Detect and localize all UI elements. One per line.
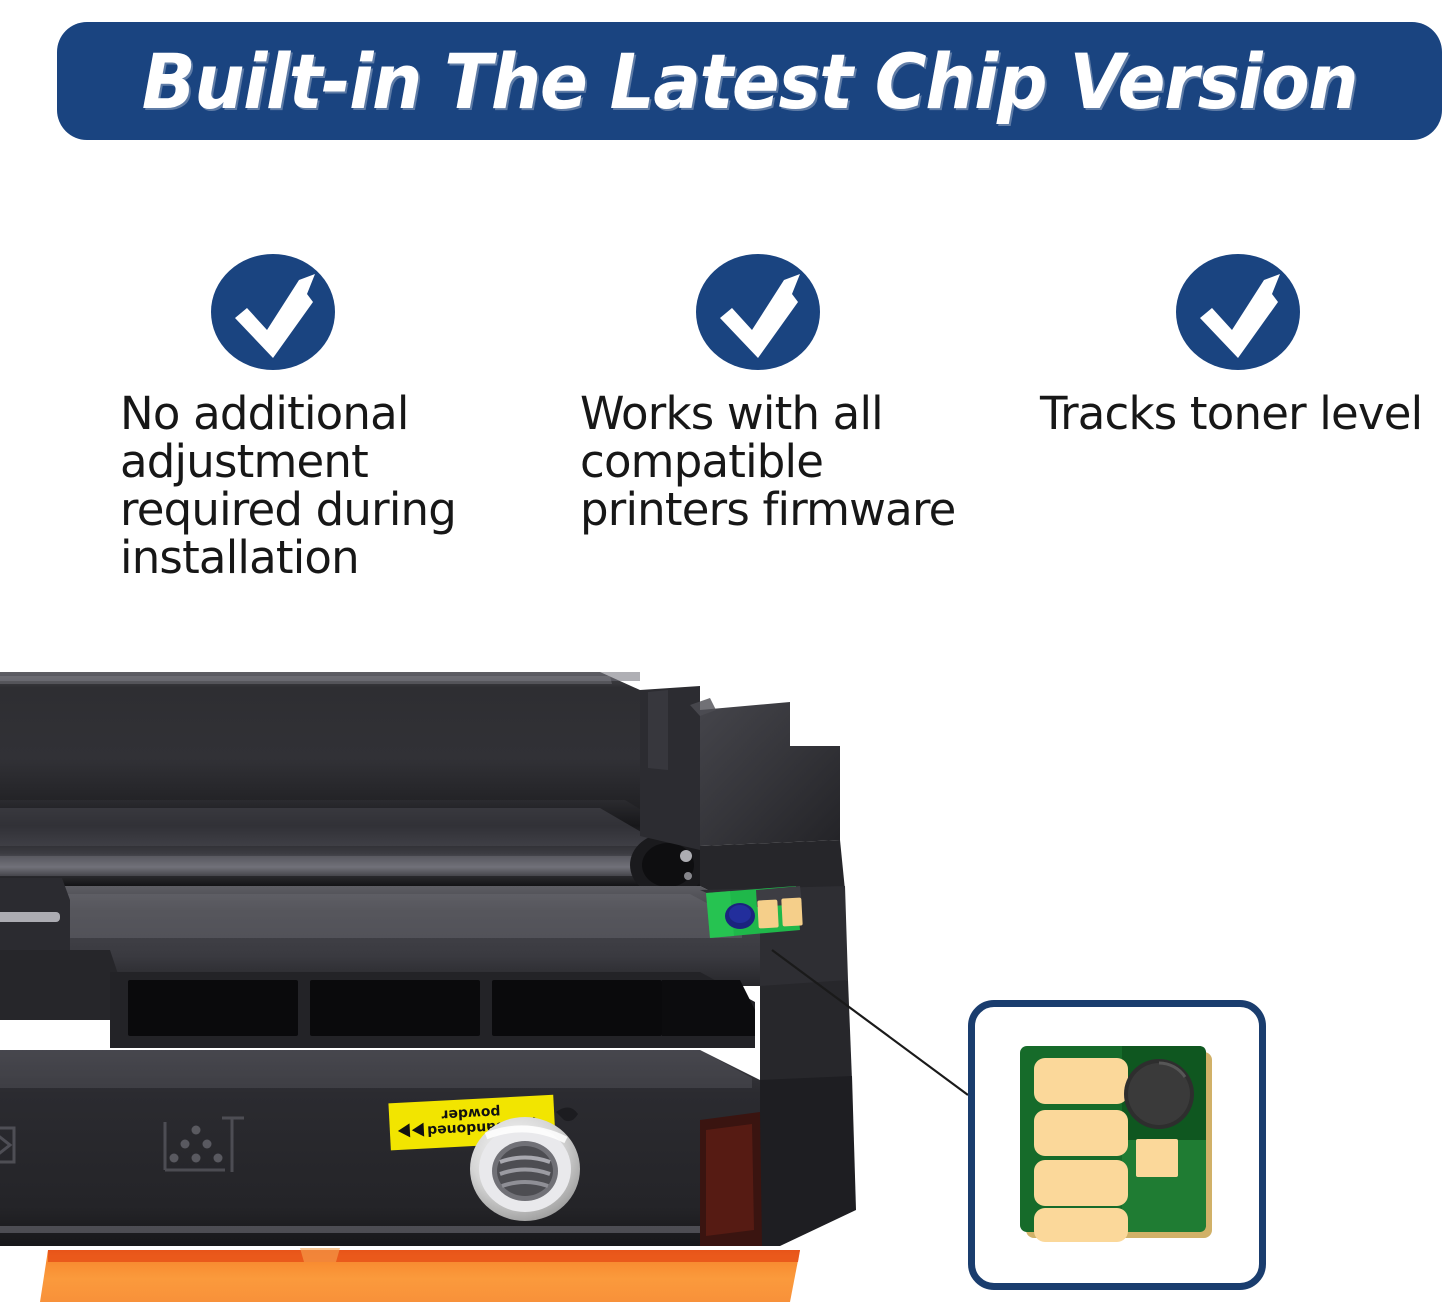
chip-callout-box xyxy=(968,1000,1266,1290)
feature-icon-wrap xyxy=(580,250,1020,390)
feature-label: No additional adjustment required during… xyxy=(120,390,520,583)
feature-label: Works with all compatible printers firmw… xyxy=(580,390,1020,534)
blue-check-circle-icon xyxy=(1160,250,1320,380)
feature-label: Tracks toner level xyxy=(1040,390,1445,438)
svg-text:powder: powder xyxy=(441,1104,501,1123)
toner-fill-port xyxy=(470,1117,580,1221)
feature-list: No additional adjustment required during… xyxy=(0,250,1445,650)
feature-item-firmware: Works with all compatible printers firmw… xyxy=(580,250,1020,534)
blue-check-circle-icon xyxy=(195,250,355,380)
feature-icon-wrap xyxy=(120,250,520,390)
blue-check-circle-icon xyxy=(680,250,840,380)
header-banner: Built-in The Latest Chip Version xyxy=(57,22,1442,140)
feature-item-no-adjustment: No additional adjustment required during… xyxy=(120,250,520,583)
feature-icon-wrap xyxy=(1040,250,1445,390)
toner-chip-closeup-icon xyxy=(1012,1040,1222,1250)
feature-item-toner-level: Tracks toner level xyxy=(1040,250,1445,438)
banner-title: Built-in The Latest Chip Version xyxy=(142,37,1357,126)
cartridge-chip xyxy=(706,886,803,938)
